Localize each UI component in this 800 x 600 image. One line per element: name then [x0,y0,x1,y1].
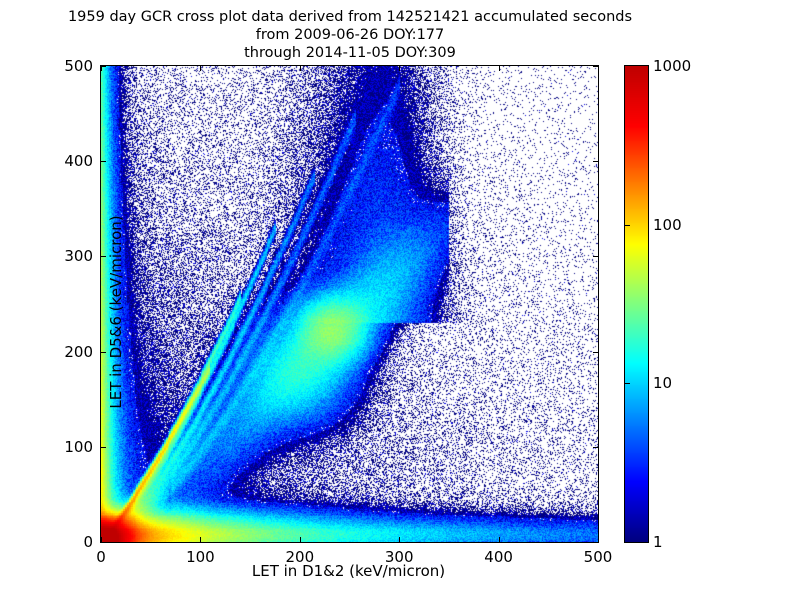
title-line-3: through 2014-11-05 DOY:309 [0,44,700,62]
y-tick-mark [593,542,598,543]
plot-title: 1959 day GCR cross plot data derived fro… [0,8,700,62]
plot-area [100,65,599,543]
y-tick-mark [593,352,598,353]
x-tick-mark [499,66,500,71]
x-tick-mark [300,537,301,542]
y-tick-label: 0 [38,533,93,551]
y-tick-mark [101,352,106,353]
colorbar [624,65,649,543]
y-tick-mark [593,66,598,67]
colorbar-gradient [625,66,648,542]
x-axis-label: LET in D1&2 (keV/micron) [100,562,597,580]
y-tick-mark [101,542,106,543]
y-tick-label: 200 [38,343,93,361]
y-tick-label: 400 [38,152,93,170]
title-line-1: 1959 day GCR cross plot data derived fro… [0,8,700,26]
x-tick-mark [598,537,599,542]
colorbar-tick-mark [625,225,630,226]
figure-canvas: 1959 day GCR cross plot data derived fro… [0,0,800,600]
colorbar-tick-label: 1000 [653,57,691,75]
y-tick-label: 300 [38,247,93,265]
y-tick-mark [101,256,106,257]
x-tick-mark [200,66,201,71]
title-line-2: from 2009-06-26 DOY:177 [0,26,700,44]
y-tick-label: 500 [38,57,93,75]
colorbar-tick-mark [625,383,630,384]
y-tick-mark [593,447,598,448]
y-tick-mark [593,256,598,257]
y-tick-mark [101,66,106,67]
y-tick-mark [101,447,106,448]
colorbar-tick-label: 10 [653,374,672,392]
x-tick-mark [598,66,599,71]
density-heatmap [101,66,598,542]
y-tick-label: 100 [38,438,93,456]
x-tick-mark [300,66,301,71]
x-tick-mark [399,66,400,71]
colorbar-tick-label: 100 [653,216,682,234]
x-tick-mark [399,537,400,542]
y-tick-mark [101,161,106,162]
x-tick-mark [200,537,201,542]
y-axis-label: LET in D5&6 (keV/micron) [107,74,125,550]
x-tick-mark [499,537,500,542]
colorbar-tick-label: 1 [653,533,663,551]
y-tick-mark [593,161,598,162]
